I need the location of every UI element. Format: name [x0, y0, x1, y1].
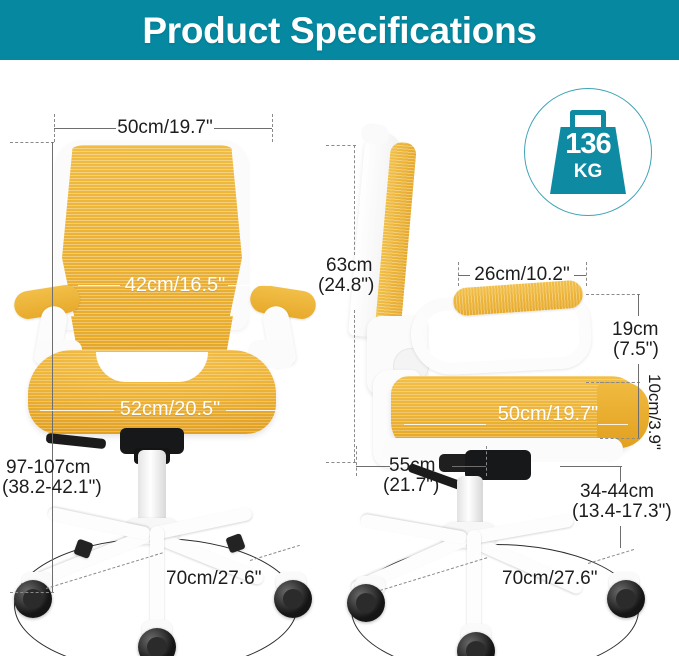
- dim-side-armrest-height: 19cm: [612, 320, 658, 341]
- seat-notch: [96, 352, 208, 382]
- height-lever: [46, 433, 107, 449]
- dim-rule: [638, 294, 639, 316]
- dim-rule: [638, 382, 639, 438]
- armrest-right: [244, 288, 320, 362]
- dim-tick: [458, 262, 459, 286]
- dim-rule: [356, 466, 390, 467]
- dim-rule-white: [78, 285, 120, 286]
- dim-side-base-diameter: 70cm/27.6": [502, 568, 597, 589]
- dim-front-base-diameter: 70cm/27.6": [166, 568, 261, 589]
- dim-tick: [586, 294, 640, 295]
- backrest-mesh: [62, 145, 242, 327]
- dim-side-seat-height-range: 34-44cm: [580, 482, 654, 503]
- armrest-loop-inner: [428, 306, 580, 362]
- dim-tick: [586, 262, 587, 286]
- page-title: Product Specifications: [142, 12, 536, 49]
- dim-front-overall-height: 97-107cm: [6, 458, 91, 479]
- dim-rule: [620, 526, 621, 548]
- dim-side-backrest-height: 63cm: [326, 256, 372, 277]
- dim-side-seat-depth: 50cm/19.7": [490, 403, 606, 425]
- dim-rule: [560, 466, 622, 467]
- dim-rule-white: [226, 410, 296, 411]
- dim-front-overall-height-inch: (38.2-42.1"): [2, 478, 102, 499]
- dim-front-seat-width: 52cm/20.5": [112, 398, 228, 420]
- dim-tick: [272, 114, 273, 142]
- dim-tick: [356, 446, 357, 476]
- dim-side-overall-depth: 55cm: [389, 456, 435, 477]
- dim-rule: [52, 142, 53, 592]
- gas-cylinder: [138, 450, 166, 528]
- caster-wheel: [14, 580, 52, 618]
- dim-front-backrest-width: 42cm/16.5": [118, 274, 232, 296]
- caster-wheel: [274, 580, 312, 618]
- dim-tick: [326, 462, 356, 463]
- dim-tick: [600, 438, 640, 439]
- dim-side-armrest-depth: 26cm/10.2": [462, 264, 582, 285]
- dim-rule: [452, 466, 486, 467]
- dim-side-seat-thickness: 10cm/3.9": [645, 374, 664, 450]
- dim-front-back-width: 50cm/19.7": [113, 117, 217, 138]
- dim-rule: [354, 145, 355, 255]
- dim-side-seat-height-range-inch: (13.4-17.3"): [572, 502, 672, 523]
- dim-rule-white: [404, 424, 486, 425]
- front-view-chair: [0, 120, 330, 650]
- dim-rule: [354, 310, 355, 462]
- dim-rule: [214, 128, 272, 129]
- dim-rule: [638, 364, 639, 382]
- dim-side-overall-depth-inch: (21.7"): [383, 476, 439, 497]
- dim-tick: [10, 592, 54, 593]
- dim-rule: [620, 466, 621, 482]
- dim-rule: [54, 128, 116, 129]
- dim-rule-white: [40, 410, 114, 411]
- caster-wheel: [607, 580, 645, 618]
- dim-rule-white: [228, 285, 270, 286]
- product-specification-sheet: Product Specifications 136 KG: [0, 0, 679, 656]
- base-spoke: [360, 513, 469, 545]
- dim-tick: [600, 382, 640, 383]
- dim-side-armrest-height-inch: (7.5"): [613, 340, 659, 361]
- dim-tick: [326, 145, 356, 146]
- dim-tick: [10, 142, 54, 143]
- dim-tick: [486, 446, 487, 476]
- dim-side-backrest-height-inch: (24.8"): [318, 276, 374, 297]
- header-banner: Product Specifications: [0, 0, 679, 60]
